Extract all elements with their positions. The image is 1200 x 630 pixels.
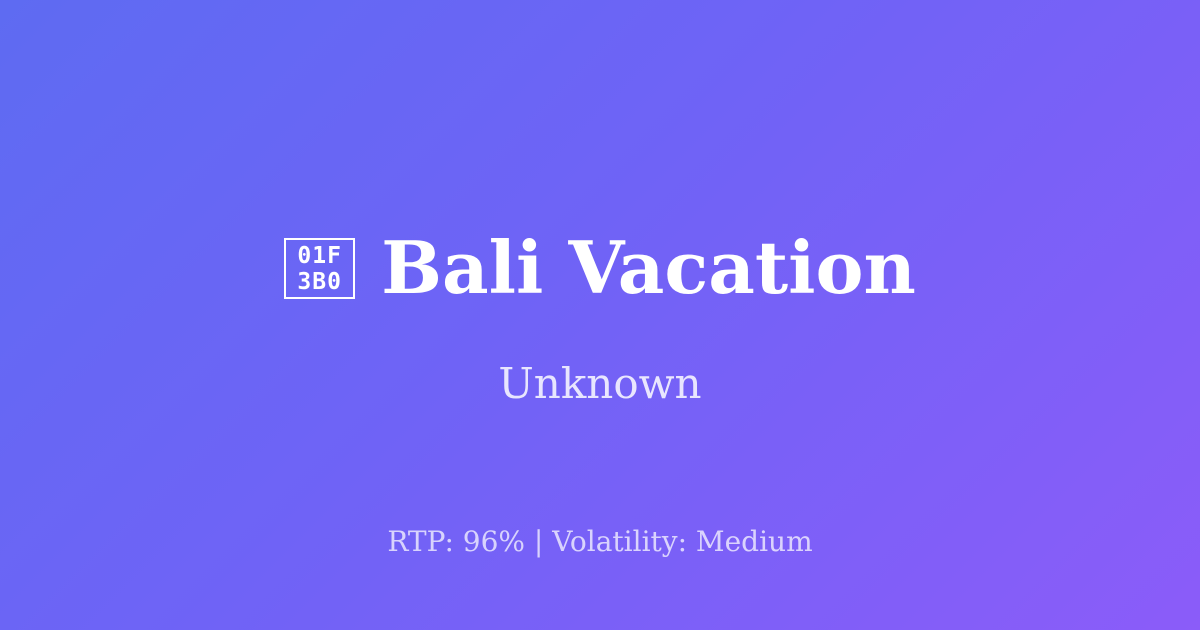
title-row: 01F 3B0 Bali Vacation bbox=[0, 232, 1200, 304]
slot-machine-emoji-icon: 01F 3B0 bbox=[284, 238, 355, 299]
tofu-hex-top: 01F bbox=[297, 243, 342, 269]
rtp-stat: RTP: 96% | Volatility: Medium bbox=[387, 525, 812, 558]
tofu-hex-bottom: 3B0 bbox=[297, 269, 342, 295]
subtitle: Unknown bbox=[0, 363, 1200, 405]
game-stats-line: RTP: 96% | Volatility: Medium bbox=[0, 528, 1200, 556]
og-preview-card: 01F 3B0 Bali Vacation Unknown RTP: 96% |… bbox=[0, 0, 1200, 630]
page-title: Bali Vacation bbox=[381, 232, 916, 304]
